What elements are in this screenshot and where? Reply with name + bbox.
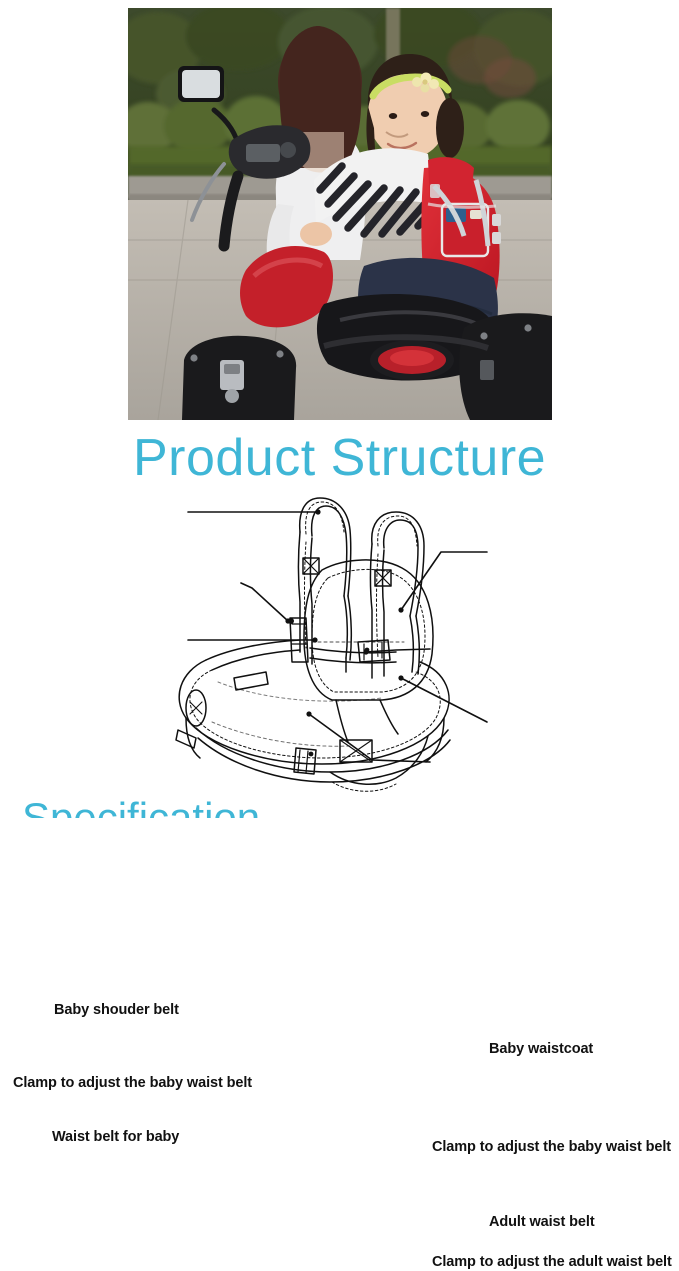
waistcoat-body: [304, 560, 433, 700]
adult-waist-belt: [176, 650, 450, 791]
callout-clamp-baby-waist-belt-left: Clamp to adjust the baby waist belt: [13, 1075, 252, 1092]
structure-diagram: Baby shouder belt Clamp to adjust the ba…: [0, 492, 679, 797]
page-title: Product Structure: [0, 428, 679, 488]
baby-waist-belt: [206, 618, 396, 670]
callout-baby-shoulder-belt: Baby shouder belt: [54, 1002, 179, 1019]
shoulder-straps: [299, 498, 425, 674]
vest-belt-connectors: [336, 700, 398, 742]
product-photo: [128, 8, 552, 420]
callout-adult-waist-belt: Adult waist belt: [489, 1214, 595, 1231]
product-photo-section: [0, 0, 679, 420]
next-section-heading-text: Specification: [22, 798, 260, 818]
callout-baby-waistcoat: Baby waistcoat: [489, 1041, 593, 1058]
next-section-heading: Specification: [0, 798, 679, 818]
callout-waist-belt-for-baby: Waist belt for baby: [52, 1129, 179, 1146]
leader-lines: [188, 509, 487, 762]
callout-clamp-adult-waist-belt: Clamp to adjust the adult waist belt: [432, 1254, 672, 1271]
callout-clamp-baby-waist-belt-right: Clamp to adjust the baby waist belt: [432, 1139, 671, 1156]
